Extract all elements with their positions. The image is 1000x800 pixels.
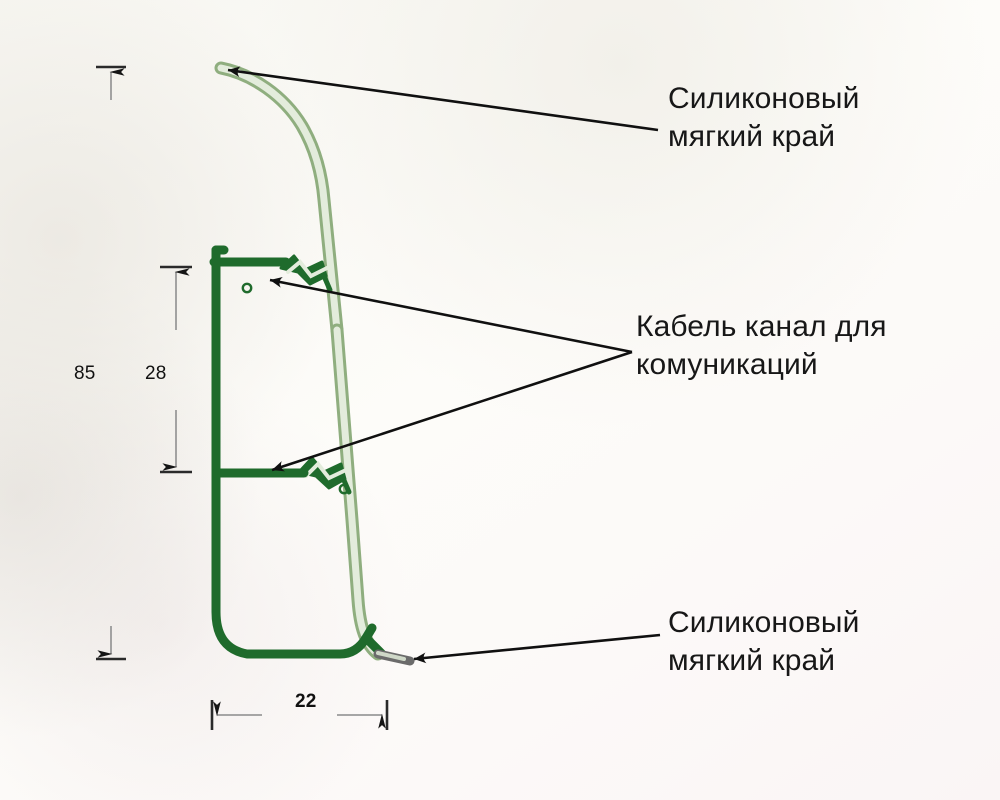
label-top-soft-edge: Силиконовый мягкий край — [668, 80, 859, 157]
leader-line-bottom — [414, 635, 660, 659]
diagram-canvas: Силиконовый мягкий край Кабель канал для… — [0, 0, 1000, 800]
dimension-85 — [96, 67, 126, 659]
label-bottom-soft-edge: Силиконовый мягкий край — [668, 604, 859, 681]
silicone-soft-edge-bottom — [378, 653, 410, 661]
dimension-value-85: 85 — [74, 363, 96, 385]
leader-line-channel-lower — [272, 352, 632, 470]
label-cable-channel: Кабель канал для комуникаций — [636, 308, 887, 385]
dimension-value-22: 22 — [295, 691, 317, 713]
leader-line-channel-upper — [270, 280, 632, 352]
dimension-value-28: 28 — [145, 363, 167, 385]
